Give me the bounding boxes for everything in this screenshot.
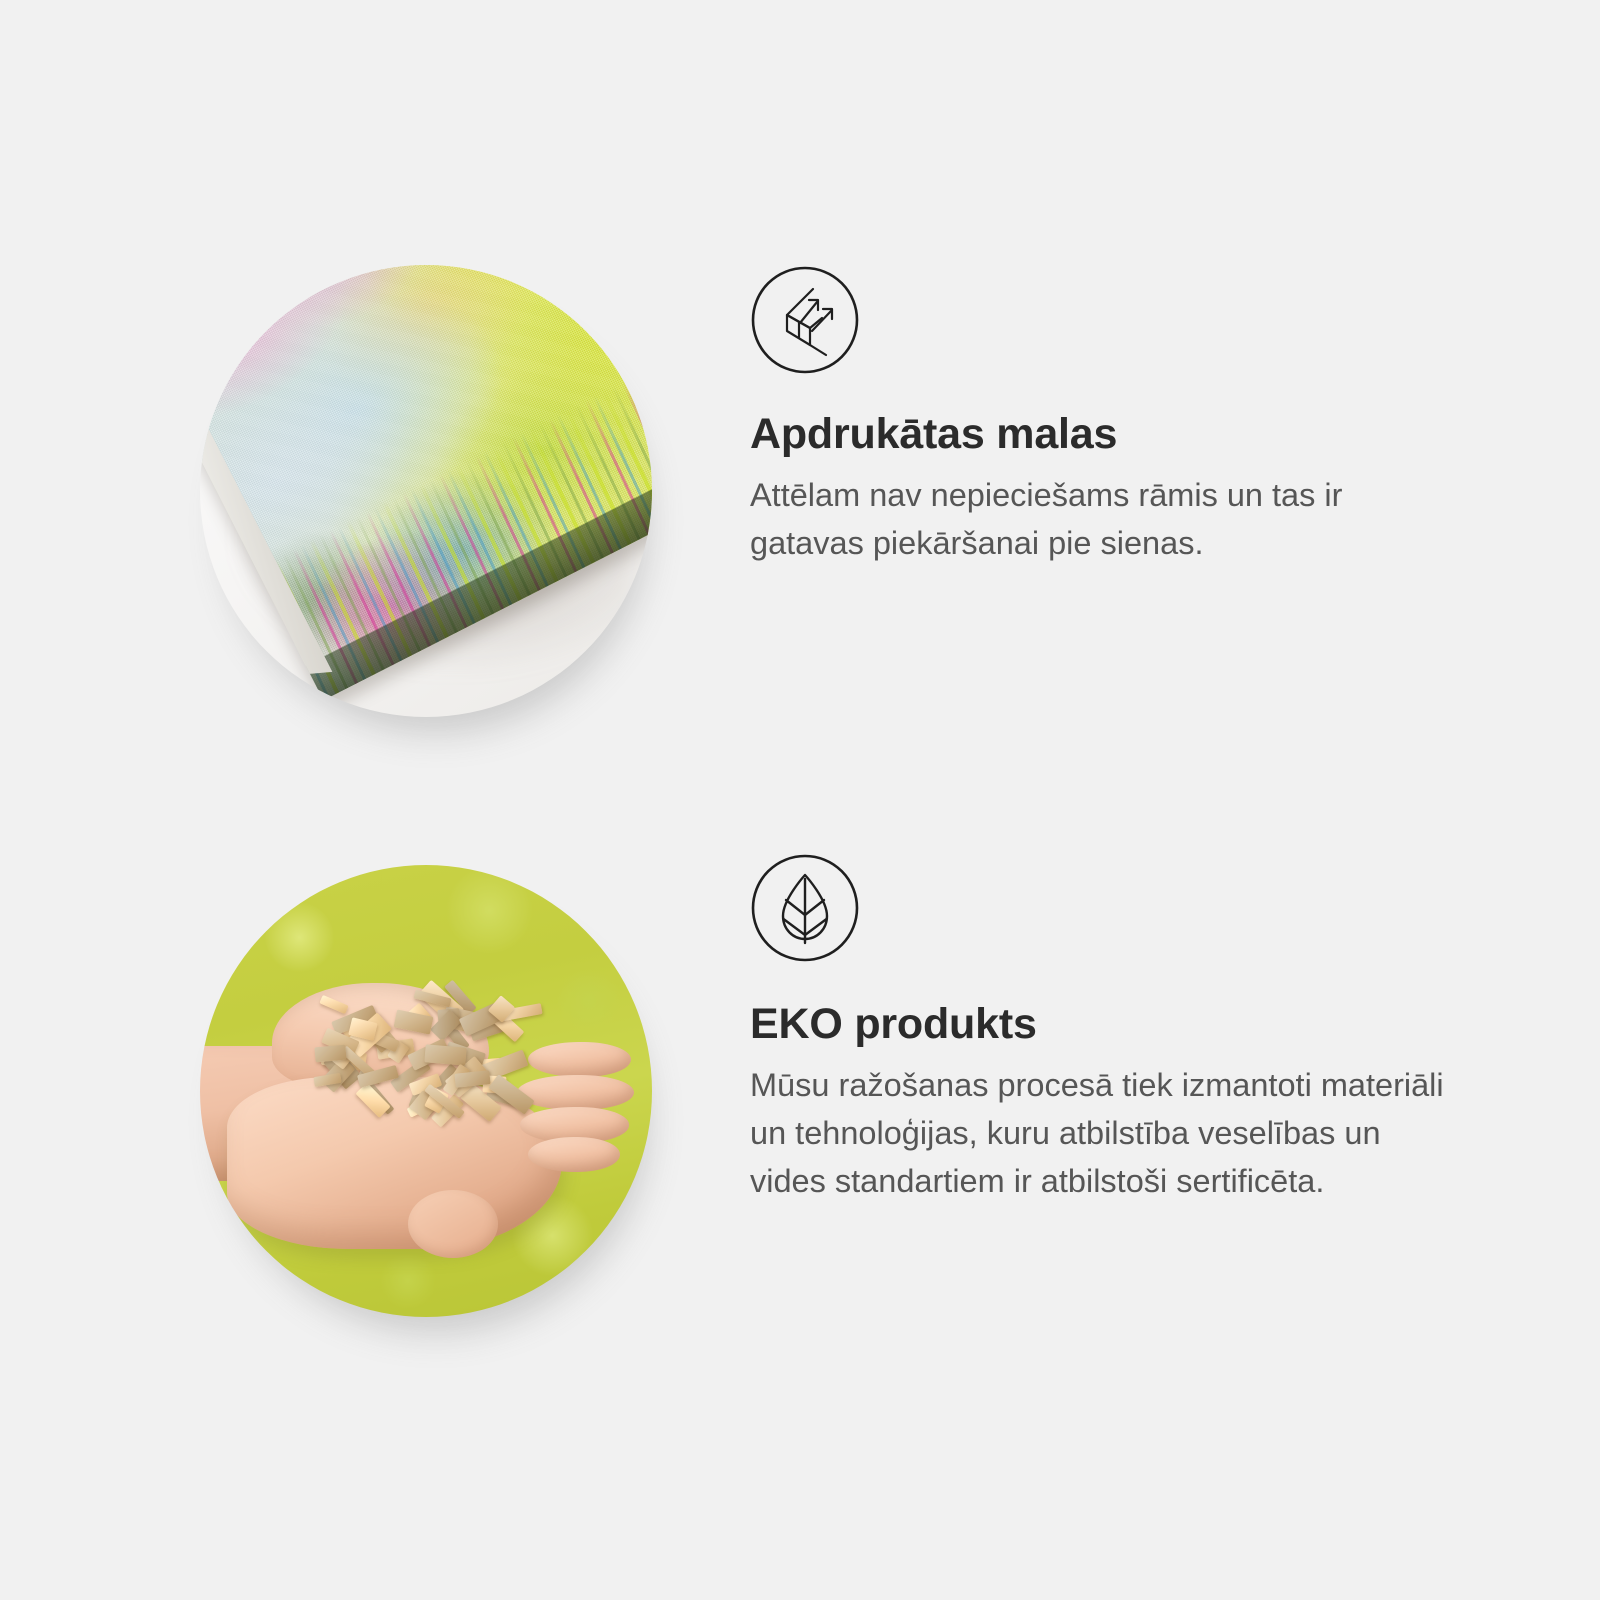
feature-title: EKO produkts [750,1001,1490,1048]
feature-highlights-page: Apdrukātas malas Attēlam nav nepieciešam… [0,0,1600,1600]
feature-block-eco-product: EKO produkts Mūsu ražošanas procesā tiek… [0,865,1600,1325]
printed-edges-text-column: Apdrukātas malas Attēlam nav nepieciešam… [750,265,1490,568]
feature-description: Mūsu ražošanas procesā tiek izmantoti ma… [750,1062,1455,1205]
feature-description: Attēlam nav nepieciešams rāmis un tas ir… [750,472,1455,568]
green-bokeh-background [200,865,652,1317]
eco-product-text-column: EKO produkts Mūsu ražošanas procesā tiek… [750,853,1490,1206]
eco-photo-wrapper [200,865,652,1317]
wood-chips-pile [308,992,561,1164]
feature-block-printed-edges: Apdrukātas malas Attēlam nav nepieciešam… [0,265,1600,725]
canvas-corner-photo-wrapper [200,265,652,717]
thumb [408,1190,498,1258]
canvas-scene [200,265,652,717]
wood-chip [319,995,348,1014]
canvas-corner-photo [200,265,652,717]
feature-title: Apdrukātas malas [750,411,1490,458]
leaf-icon [750,853,860,963]
hands-with-wood-chips-photo [200,865,652,1317]
wood-chip [424,1044,467,1065]
canvas-wrap-arrows-icon [750,265,860,375]
